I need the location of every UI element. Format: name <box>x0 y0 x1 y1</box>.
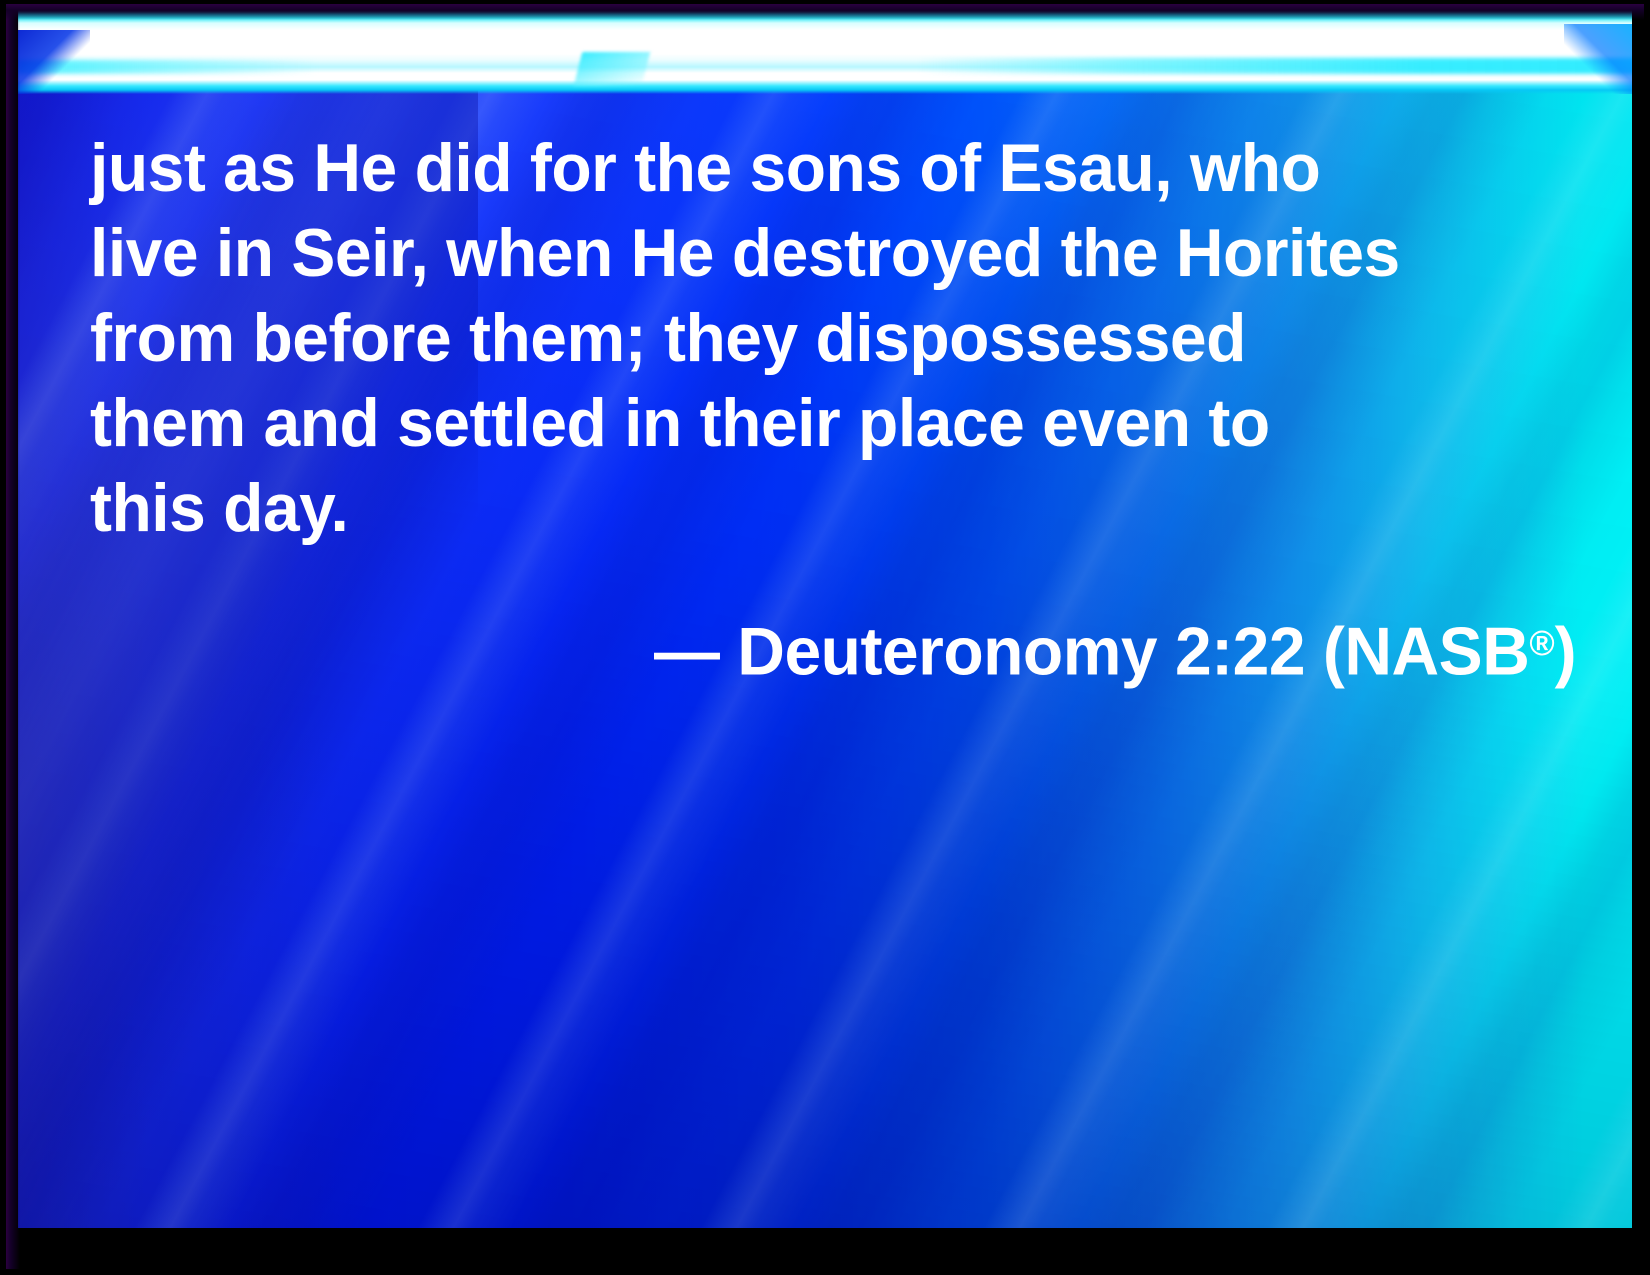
verse-text-block: just as He did for the sons of Esau, who… <box>90 126 1580 694</box>
verse-line-4: them and settled in their place even to <box>90 381 1535 466</box>
verse-line-3: from before them; they dispossessed <box>90 296 1535 381</box>
glow-notch-left <box>18 30 90 94</box>
attribution-open-paren: ( <box>1323 613 1344 689</box>
verse-slide: just as He did for the sons of Esau, who… <box>0 0 1650 1275</box>
registered-trademark-icon: ® <box>1529 624 1554 663</box>
verse-line-1: just as He did for the sons of Esau, who <box>90 126 1535 211</box>
glow-wisp-center-icon <box>574 52 650 86</box>
attribution-book: Deuteronomy <box>737 613 1157 689</box>
verse-attribution: — Deuteronomy 2:22 (NASB®) <box>135 601 1580 694</box>
glow-notch-right <box>1564 24 1632 94</box>
glow-wisp-right-icon <box>918 58 1632 74</box>
top-glow-band <box>18 10 1632 94</box>
attribution-close-paren: ) <box>1555 613 1576 689</box>
slide-canvas: just as He did for the sons of Esau, who… <box>18 10 1632 1228</box>
attribution-translation: NASB <box>1344 613 1529 689</box>
attribution-dash: — <box>654 613 719 689</box>
verse-line-2: live in Seir, when He destroyed the Hori… <box>90 211 1535 296</box>
verse-line-5: this day. <box>90 466 1535 551</box>
glow-band-core <box>18 10 1632 94</box>
attribution-reference: 2:22 <box>1175 613 1305 689</box>
